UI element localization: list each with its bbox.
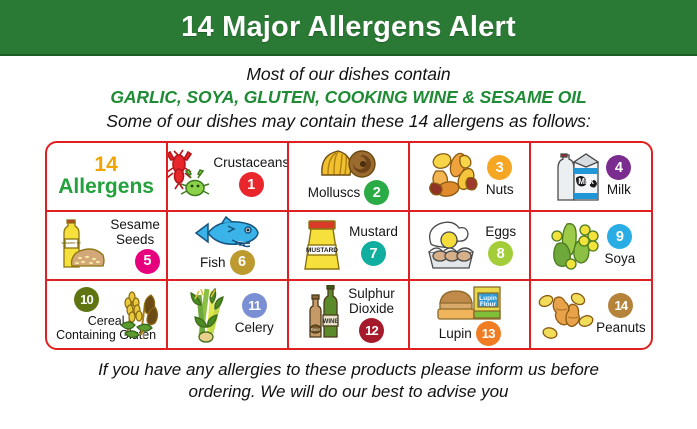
svg-text:WINE: WINE [323,319,339,325]
milk-carton-icon: Milk [550,148,604,204]
allergen-table-wrap: 14 Allergens [45,141,653,350]
intro-line-1: Most of our dishes contain [10,63,687,86]
allergen-cell-eggs[interactable]: Eggs 8 [408,212,529,279]
svg-text:MUSTARD: MUSTARD [306,247,338,254]
allergen-label: Nuts [486,182,514,197]
allergen-row: 10 Cereal Containing Gluten [47,279,651,348]
peanuts-icon [536,287,594,341]
shell-snail-icon [316,147,382,179]
allergen-label: Sesame Seeds [110,217,160,247]
allergen-badge: 10 [74,287,99,312]
mixed-nuts-icon [426,149,484,203]
wine-bottles-icon: WINE Beer [302,285,346,343]
lobster-crab-icon [166,148,212,204]
svg-text:sesame oil: sesame oil [62,240,81,245]
allergen-cell-fish[interactable]: Fish 6 [166,212,287,279]
allergen-badge: 14 [608,293,633,318]
allergen-badge: 4 [606,155,631,180]
allergen-row: sesame oil Sesame Seeds 5 [47,210,651,279]
allergen-title-cell: 14 Allergens [47,143,166,210]
footer-block: If you have any allergies to these produ… [0,359,697,403]
allergen-badge: 5 [135,249,160,274]
intro-line-3: Some of our dishes may contain these 14 … [10,110,687,133]
intro-block: Most of our dishes contain GARLIC, SOYA,… [0,56,697,135]
allergen-badge: 9 [607,224,632,249]
page-title: 14 Major Allergens Alert [181,11,516,44]
allergen-badge: 6 [230,250,255,275]
mustard-jar-icon: MUSTARD [299,217,347,273]
allergen-label: Crustaceans [213,155,287,170]
intro-line-2-ingredients: GARLIC, SOYA, GLUTEN, COOKING WINE & SES… [10,86,687,109]
allergen-badge: 12 [359,318,384,343]
allergen-badge: 11 [242,293,267,318]
allergen-cell-lupin[interactable]: Lupin Flour Lupin 13 [408,281,529,348]
allergen-cell-cereal-gluten[interactable]: 10 Cereal Containing Gluten [47,281,166,348]
allergen-label: Lupin [439,326,472,341]
svg-text:Milk: Milk [579,177,595,186]
footer-line-2: ordering. We will do our best to advise … [24,381,673,403]
allergen-badge: 1 [239,172,264,197]
allergen-badge: 7 [361,241,386,266]
allergen-label: Mustard [349,224,398,239]
allergen-row: 14 Allergens [47,143,651,210]
allergen-cell-celery[interactable]: 11 Celery [166,281,287,348]
sesame-oil-bun-icon: sesame oil [52,217,108,273]
soya-beans-icon [547,218,603,272]
egg-carton-icon [423,218,483,272]
svg-text:Flour: Flour [480,301,497,308]
allergen-badge: 13 [476,321,501,346]
title-number: 14 [94,154,117,176]
allergen-cell-sulphur-dioxide[interactable]: WINE Beer Sulphur Dioxide 12 [287,281,408,348]
allergen-cell-peanuts[interactable]: 14 Peanuts [529,281,650,348]
allergen-label: Celery [235,320,274,335]
allergen-label: Eggs [485,224,516,239]
allergen-badge: 3 [487,155,512,180]
header-banner: 14 Major Allergens Alert [0,0,697,56]
allergen-cell-milk[interactable]: Milk 4 Milk [529,143,650,210]
allergen-cell-mustard[interactable]: MUSTARD Mustard 7 [287,212,408,279]
allergen-table: 14 Allergens [45,141,653,350]
lupin-flour-bread-icon: Lupin Flour [434,283,506,321]
allergen-cell-soya[interactable]: 9 Soya [529,212,650,279]
allergen-cell-sesame-seeds[interactable]: sesame oil Sesame Seeds 5 [47,212,166,279]
fish-icon [192,216,262,250]
footer-line-1: If you have any allergies to these produ… [24,359,673,381]
allergen-label: Molluscs [308,185,361,200]
allergen-badge: 8 [488,241,513,266]
title-word: Allergens [58,176,154,198]
celery-stalks-icon [181,285,233,343]
allergen-cell-molluscs[interactable]: Molluscs 2 [287,143,408,210]
allergen-label: Soya [605,251,636,266]
allergen-cell-crustaceans[interactable]: Crustaceans 1 [166,143,287,210]
allergen-badge: 2 [364,180,389,205]
allergen-cell-nuts[interactable]: 3 Nuts [408,143,529,210]
allergen-label: Sulphur Dioxide [348,286,395,316]
allergen-label: Peanuts [596,320,646,335]
allergen-label: Fish [200,255,226,270]
allergen-label: Milk [607,182,631,197]
svg-text:Beer: Beer [311,327,321,332]
wheat-sheaf-icon [111,285,163,343]
